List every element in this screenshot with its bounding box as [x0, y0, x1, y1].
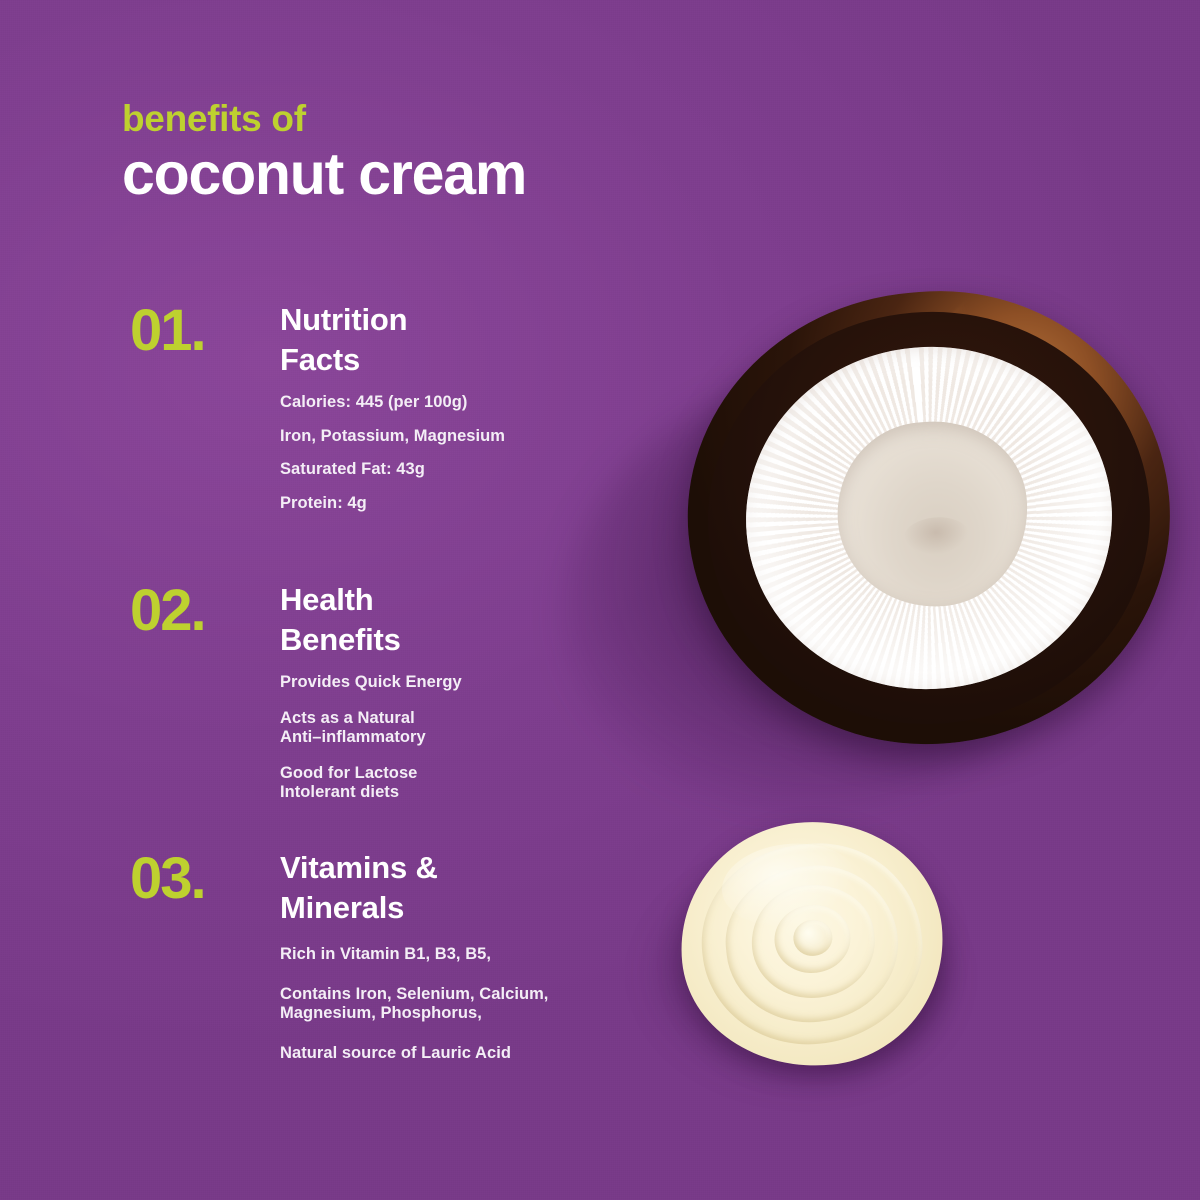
section-number-03: 03. — [130, 852, 280, 905]
list-item: Calories: 445 (per 100g) — [280, 393, 600, 412]
section-health-benefits: 02. Health Benefits Provides Quick Energ… — [130, 580, 600, 803]
poster-title-block: benefits of coconut cream — [122, 100, 762, 204]
list-item: Good for Lactose Intolerant diets — [280, 764, 600, 803]
list-item: Rich in Vitamin B1, B3, B5, — [280, 945, 600, 964]
section-heading-01: Nutrition Facts — [280, 300, 407, 379]
section-number-02: 02. — [130, 584, 280, 637]
coconut-flesh-ring — [732, 331, 1126, 705]
title-line-2: coconut cream — [122, 145, 762, 204]
list-item: Iron, Potassium, Magnesium — [280, 427, 600, 446]
section-body-02: Provides Quick Energy Acts as a Natural … — [280, 673, 600, 802]
section-heading-03: Vitamins & Minerals — [280, 848, 438, 927]
list-item: Protein: 4g — [280, 494, 600, 513]
title-line-1: benefits of — [122, 100, 762, 137]
infographic-poster: benefits of coconut cream 01. Nutrition … — [0, 0, 1200, 1200]
section-number-01: 01. — [130, 304, 280, 357]
list-item: Saturated Fat: 43g — [280, 460, 600, 479]
section-header-row: 03. Vitamins & Minerals — [130, 848, 600, 927]
list-item: Provides Quick Energy — [280, 673, 600, 692]
list-item: Contains Iron, Selenium, Calcium, Magnes… — [280, 985, 600, 1024]
section-heading-02: Health Benefits — [280, 580, 401, 659]
coconut-cavity-fold — [902, 515, 970, 558]
section-body-03: Rich in Vitamin B1, B3, B5, Contains Iro… — [280, 945, 600, 1063]
section-header-row: 02. Health Benefits — [130, 580, 600, 659]
section-header-row: 01. Nutrition Facts — [130, 300, 600, 379]
section-body-01: Calories: 445 (per 100g) Iron, Potassium… — [280, 393, 600, 513]
list-item: Natural source of Lauric Acid — [280, 1044, 600, 1063]
list-item: Acts as a Natural Anti–inflammatory — [280, 709, 600, 748]
section-nutrition-facts: 01. Nutrition Facts Calories: 445 (per 1… — [130, 300, 600, 527]
section-vitamins-minerals: 03. Vitamins & Minerals Rich in Vitamin … — [130, 848, 600, 1083]
